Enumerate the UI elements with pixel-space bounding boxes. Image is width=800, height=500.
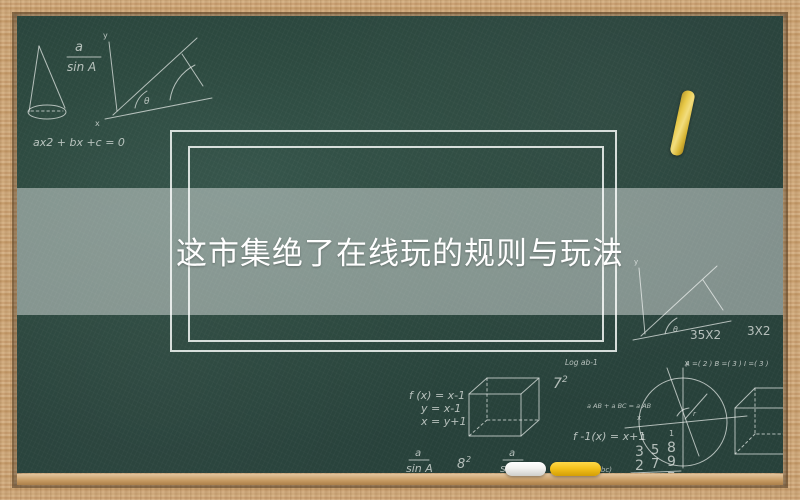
svg-text:8: 8 (457, 457, 465, 472)
exponent-seven-squared: 7 2 (553, 375, 568, 392)
svg-text:a: a (75, 40, 83, 55)
svg-text:sin A: sin A (67, 60, 96, 74)
svg-text:a: a (509, 448, 515, 459)
svg-text:1: 1 (669, 429, 674, 438)
product-35x2: 35X2 (690, 328, 721, 342)
product-3x2: 3X2 (747, 324, 771, 338)
svg-text:7: 7 (553, 376, 562, 392)
svg-text:9: 9 (667, 454, 676, 470)
svg-text:x = y+1: x = y+1 (420, 415, 466, 428)
digits-grid: 1 1 3 5 8 2 7 9 6 3 7 (631, 429, 681, 473)
chalk-tray-ledge (17, 474, 783, 485)
matrix-row-text: A =( 2 ) B =( 3 ) I =( 3 ) (684, 360, 769, 368)
svg-text:θ: θ (673, 325, 678, 334)
fraction-a-over-sina-top: a sin A (67, 40, 101, 74)
svg-text:x: x (637, 414, 641, 422)
svg-text:2: 2 (562, 375, 568, 385)
exponent-eight-squared: 8 2 (457, 455, 471, 472)
cube-diagram-left (469, 378, 539, 436)
log-ab-label: Log ab-1 (565, 358, 598, 367)
svg-text:y: y (685, 359, 689, 367)
svg-text:1: 1 (641, 433, 646, 442)
svg-text:θ: θ (144, 97, 150, 107)
svg-text:5: 5 (651, 443, 659, 458)
cube-diagram-right (735, 388, 783, 454)
circle-axes-diagram: y x r (625, 359, 747, 468)
svg-text:sin A: sin A (406, 462, 433, 473)
fraction-a-over-sina-bl1: a sin A (406, 448, 433, 473)
inverse-function-equation: f -1(x) = x+1 (573, 430, 645, 443)
quadratic-equation: ax2 + bx +c = 0 (33, 136, 125, 149)
white-chalk-piece-icon (505, 462, 546, 476)
svg-text:f -1(x) = x+1: f -1(x) = x+1 (573, 430, 645, 443)
svg-text:f (x) = x-1: f (x) = x-1 (409, 389, 465, 402)
svg-text:8: 8 (667, 440, 676, 456)
svg-text:2: 2 (635, 458, 644, 473)
angle-diagram-top: y x θ (95, 31, 212, 128)
svg-text:3: 3 (635, 444, 644, 460)
page-title: 这市集绝了在线玩的规则与玩法 (0, 228, 800, 273)
small-vector-equation: a AB + a BC = a AB (587, 402, 652, 410)
cone-diagram (28, 46, 66, 119)
svg-text:y = x-1: y = x-1 (420, 402, 461, 415)
yellow-chalk-piece-icon (550, 462, 601, 476)
function-equations-group: f (x) = x-1 y = x-1 x = y+1 (409, 389, 466, 428)
svg-text:r: r (693, 410, 697, 418)
svg-text:7: 7 (667, 471, 675, 473)
svg-text:2: 2 (466, 455, 471, 464)
svg-text:y: y (103, 31, 108, 40)
svg-text:x: x (95, 119, 100, 128)
svg-text:a: a (415, 448, 421, 459)
svg-text:7: 7 (651, 457, 659, 472)
chalkboard-banner: a sin A y x θ ax2 + bx +c = (0, 0, 800, 500)
